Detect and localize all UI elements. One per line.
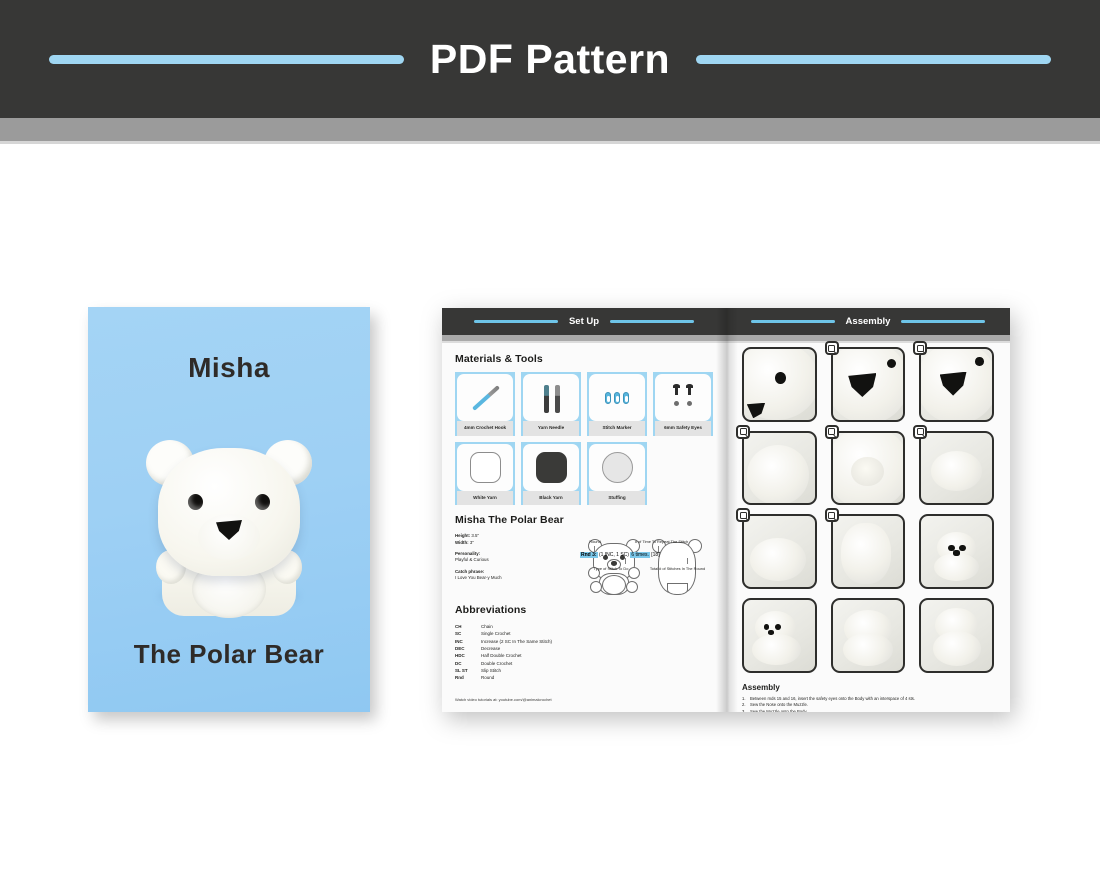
muzzle-detail-photo — [831, 347, 906, 422]
schematic-leg-right — [626, 581, 638, 593]
height-value: 3.5" — [471, 533, 479, 538]
schematic-belly — [602, 575, 626, 595]
materials-grid: 4mm Crochet Hook Yarn Needle Stitch Mark… — [455, 372, 713, 505]
banner-rule-right — [696, 55, 1051, 64]
material-card-needle[interactable]: Yarn Needle — [521, 372, 581, 436]
abbr-value: Half Double Crochet — [481, 652, 713, 659]
abbr-key: SL ST — [455, 667, 481, 674]
right-page-rule-end — [901, 320, 985, 323]
width-label: Width: — [455, 540, 469, 545]
banner-grey-band — [0, 118, 1100, 141]
left-page-header: Set Up — [442, 308, 726, 335]
material-label: 4mm Crochet Hook — [457, 421, 513, 436]
legend-ticks-bottom — [580, 558, 713, 564]
cover-bear-illustration — [144, 432, 314, 617]
step-number: 3. — [742, 709, 750, 712]
abbreviation-row: HDCHalf Double Crochet — [455, 652, 713, 659]
zoom-icon[interactable] — [825, 425, 839, 439]
abbreviation-row: RndRound — [455, 674, 713, 681]
stitch-marker-icon — [605, 392, 629, 404]
spread-left-page[interactable]: Set Up Materials & Tools 4mm Crochet Hoo… — [442, 308, 726, 712]
material-card-black-yarn[interactable]: Black Yarn — [521, 442, 581, 506]
zoom-icon[interactable] — [736, 508, 750, 522]
right-page-title: Assembly — [846, 316, 891, 327]
cover-subtitle: The Polar Bear — [88, 639, 370, 670]
ear-photo — [919, 431, 994, 506]
abbr-key: INC — [455, 638, 481, 645]
pdf-pattern-preview: PDF Pattern Misha The Polar Bear S — [0, 0, 1100, 880]
crochet-hook-icon — [465, 378, 505, 418]
assembly-thumb-nose-detail[interactable] — [919, 347, 994, 422]
assembly-thumb-arm-leg[interactable] — [742, 514, 817, 589]
abbr-value: Single Crochet — [481, 630, 713, 637]
legend-ticks-top — [580, 546, 713, 552]
bear-front-photo — [919, 514, 994, 589]
zoom-icon[interactable] — [736, 425, 750, 439]
legend-label-round: Round — [580, 539, 610, 544]
assembly-thumb-muzzle-sewn[interactable] — [831, 431, 906, 506]
detail-catch-phrase: Catch phrase: I Love You Bear-y Much — [455, 569, 567, 582]
assembly-photo-grid — [726, 343, 1010, 673]
assembly-thumb-eye-detail[interactable] — [742, 347, 817, 422]
schematic-leg-left — [590, 581, 602, 593]
bear-side-photo — [831, 598, 906, 673]
banner-rule-left — [49, 55, 404, 64]
nose-detail-photo — [919, 347, 994, 422]
step-text: Sew the Muzzle onto the Body. — [750, 709, 807, 712]
left-page-body: Materials & Tools 4mm Crochet Hook Yarn … — [442, 343, 726, 712]
detail-personality: Personality: Playful & Curious — [455, 551, 567, 564]
tutorial-footnote[interactable]: Watch video tutorials at: youtube.com/@a… — [455, 697, 552, 702]
material-label: 6mm Safety Eyes — [655, 421, 711, 436]
abbr-value: Slip Stitch — [481, 667, 713, 674]
legend-bottom-labels: Type of Stitch To Do Total # of Stitches… — [580, 566, 713, 571]
pattern-spread[interactable]: Set Up Materials & Tools 4mm Crochet Hoo… — [442, 308, 1010, 712]
muzzle-sewn-photo — [831, 431, 906, 506]
material-label: Stuffing — [589, 491, 645, 506]
tail-photo — [831, 514, 906, 589]
material-label: Black Yarn — [523, 491, 579, 506]
material-thumb — [589, 374, 645, 421]
height-label: Height: — [455, 533, 470, 538]
pattern-notation-legend: Round # of Time To Repeat The Stitch Rnd… — [580, 539, 713, 571]
material-thumb — [457, 444, 513, 491]
belly-photo — [742, 431, 817, 506]
abbreviation-row: SL STSlip Stitch — [455, 667, 713, 674]
pattern-cover[interactable]: Misha The Polar Bear — [88, 307, 370, 712]
legend-label-stitch-type: Type of Stitch To Do — [580, 566, 642, 571]
left-page-rule-start — [474, 320, 558, 323]
material-thumb — [589, 444, 645, 491]
material-thumb — [523, 374, 579, 421]
zoom-icon[interactable] — [825, 341, 839, 355]
bear-back-photo — [919, 598, 994, 673]
assembly-thumb-bear-back[interactable] — [919, 598, 994, 673]
bear-finished-photo — [742, 598, 817, 673]
left-page-title: Set Up — [569, 316, 599, 327]
spread-right-page[interactable]: Assembly — [726, 308, 1010, 712]
zoom-icon[interactable] — [913, 425, 927, 439]
zoom-icon[interactable] — [825, 508, 839, 522]
detail-size: Height: 3.5" Width: 3" — [455, 533, 567, 546]
abbreviation-row: CHChain — [455, 623, 713, 630]
left-page-rule-end — [610, 320, 694, 323]
material-card-hook[interactable]: 4mm Crochet Hook — [455, 372, 515, 436]
abbr-value: Increase (2 SC In The Same Stitch) — [481, 638, 713, 645]
abbr-key: SC — [455, 630, 481, 637]
abbr-key: DC — [455, 660, 481, 667]
banner-title: PDF Pattern — [430, 36, 670, 83]
banner-grey-band-edge — [0, 141, 1100, 144]
assembly-step: 3.Sew the Muzzle onto the Body. — [742, 709, 994, 712]
assembly-thumb-bear-finished[interactable] — [742, 598, 817, 673]
materials-heading: Materials & Tools — [455, 353, 713, 365]
material-label: Stitch Marker — [589, 421, 645, 436]
abbr-value: Decrease — [481, 645, 713, 652]
arm-leg-photo — [742, 514, 817, 589]
material-thumb — [655, 374, 711, 421]
assembly-thumb-belly[interactable] — [742, 431, 817, 506]
material-card-marker[interactable]: Stitch Marker — [587, 372, 647, 436]
personality-label: Personality: — [455, 551, 480, 556]
zoom-icon[interactable] — [913, 341, 927, 355]
schematic-tail — [667, 583, 688, 595]
abbr-key: HDC — [455, 652, 481, 659]
personality-value: Playful & Curious — [455, 557, 489, 562]
assembly-heading: Assembly — [742, 683, 994, 692]
top-banner: PDF Pattern — [0, 0, 1100, 118]
material-thumb — [457, 374, 513, 421]
abbr-key: DEC — [455, 645, 481, 652]
bear-eye-right-shape — [255, 494, 270, 510]
black-yarn-icon — [536, 452, 567, 483]
legend-label-repeat: # of Time To Repeat The Stitch — [610, 539, 713, 544]
cover-title: Misha — [88, 352, 370, 384]
assembly-instructions: Assembly 1.Between rnds 15 and 16, inser… — [726, 673, 1010, 712]
safety-eyes-icon — [663, 385, 703, 411]
project-heading: Misha The Polar Bear — [455, 514, 713, 526]
stuffing-icon — [602, 452, 633, 483]
right-page-rule-start — [751, 320, 835, 323]
material-card-stuffing[interactable]: Stuffing — [587, 442, 647, 506]
material-label: Yarn Needle — [523, 421, 579, 436]
white-yarn-icon — [470, 452, 501, 483]
material-grid-spacer — [653, 442, 713, 506]
abbr-key: Rnd — [455, 674, 481, 681]
legend-label-total-stitches: Total # of Stitches In The Round — [642, 566, 713, 571]
assembly-thumb-bear-side[interactable] — [831, 598, 906, 673]
width-value: 3" — [470, 540, 474, 545]
abbr-value: Double Crochet — [481, 660, 713, 667]
abbreviation-row: DECDecrease — [455, 645, 713, 652]
abbreviation-row: DCDouble Crochet — [455, 660, 713, 667]
bear-eye-left-shape — [188, 494, 203, 510]
abbreviations-heading: Abbreviations — [455, 604, 713, 616]
assembly-thumb-muzzle-detail[interactable] — [831, 347, 906, 422]
material-card-white-yarn[interactable]: White Yarn — [455, 442, 515, 506]
material-card-eyes[interactable]: 6mm Safety Eyes — [653, 372, 713, 436]
catch-phrase-value: I Love You Bear-y Much — [455, 575, 502, 580]
material-thumb — [523, 444, 579, 491]
abbr-key: CH — [455, 623, 481, 630]
abbr-value: Chain — [481, 623, 713, 630]
abbreviation-row: INCIncrease (2 SC In The Same Stitch) — [455, 638, 713, 645]
assembly-thumb-tail[interactable] — [831, 514, 906, 589]
material-label: White Yarn — [457, 491, 513, 506]
right-page-header: Assembly — [726, 308, 1010, 335]
assembly-thumb-ear[interactable] — [919, 431, 994, 506]
abbr-value: Round — [481, 674, 713, 681]
abbreviations-list: CHChain SCSingle Crochet INCIncrease (2 … — [455, 623, 713, 681]
project-details: Height: 3.5" Width: 3" Personality: Play… — [455, 533, 567, 599]
eye-detail-photo — [742, 347, 817, 422]
catch-phrase-label: Catch phrase: — [455, 569, 484, 574]
yarn-needle-icon — [533, 380, 569, 416]
legend-top-labels: Round # of Time To Repeat The Stitch — [580, 539, 713, 544]
assembly-thumb-bear-front[interactable] — [919, 514, 994, 589]
abbreviation-row: SCSingle Crochet — [455, 630, 713, 637]
